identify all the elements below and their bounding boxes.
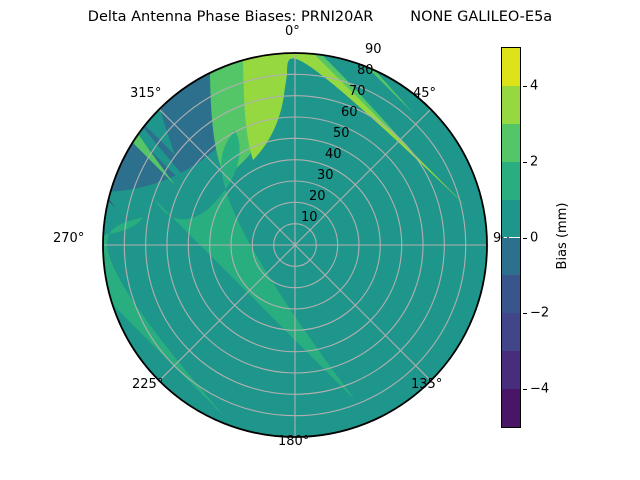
radial-tick-60: 60 (341, 106, 358, 119)
colorbar-tick-2 (523, 238, 527, 239)
angular-tick-0: 0° (285, 25, 300, 38)
colorbar-band-0 (502, 48, 520, 86)
colorbar-band-3 (502, 162, 520, 200)
angular-tick-45: 45° (413, 87, 436, 100)
colorbar-band-9 (502, 389, 520, 427)
angular-tick-315: 315° (130, 87, 161, 100)
radial-tick-40: 40 (325, 148, 342, 161)
matplotlib-figure: Delta Antenna Phase Biases: PRNI20AR NON… (0, 0, 640, 480)
colorbar-tick-4 (523, 389, 527, 390)
colorbar-band-7 (502, 313, 520, 351)
colorbar-axis-label: Bias (mm) (556, 203, 569, 270)
colorbar-band-2 (502, 124, 520, 162)
radial-tick-70: 70 (349, 85, 366, 98)
contour-band-neg5 (95, 45, 115, 207)
radial-tick-50: 50 (333, 127, 350, 140)
colorbar-tick-label-2: 0 (530, 231, 538, 244)
colorbar-gradient (502, 48, 520, 427)
contour-band-neg4 (95, 45, 109, 205)
colorbar-tick-label-0: 4 (530, 79, 538, 92)
polar-skyplot-axes: 0° 45° 90 135° 180° 225° 270° 315° 10 20… (95, 45, 495, 445)
radial-tick-90: 90 (365, 43, 382, 56)
colorbar-band-4 (502, 200, 520, 238)
colorbar-tick-label-3: −2 (530, 307, 549, 320)
angular-tick-180: 180° (278, 435, 309, 448)
colorbar-tick-3 (523, 313, 527, 314)
radial-tick-20: 20 (309, 190, 326, 203)
colorbar-band-6 (502, 275, 520, 313)
colorbar-tick-0 (523, 86, 527, 87)
contour-band-neg3 (95, 45, 105, 200)
radial-tick-30: 30 (317, 169, 334, 182)
angular-tick-270: 270° (53, 232, 84, 245)
colorbar-band-5 (502, 238, 520, 276)
angular-tick-135: 135° (411, 378, 442, 391)
contour-band-neg0-north (95, 45, 235, 60)
angular-tick-225: 225° (132, 378, 163, 391)
colorbar-tick-label-4: −4 (530, 383, 549, 396)
figure-title: Delta Antenna Phase Biases: PRNI20AR NON… (0, 9, 640, 26)
colorbar[interactable]: 420−2−4 (501, 47, 521, 428)
colorbar-band-1 (502, 86, 520, 124)
colorbar-band-8 (502, 351, 520, 389)
colorbar-tick-1 (523, 162, 527, 163)
colorbar-tick-label-1: 2 (530, 155, 538, 168)
radial-tick-80: 80 (357, 64, 374, 77)
radial-tick-10: 10 (301, 211, 318, 224)
